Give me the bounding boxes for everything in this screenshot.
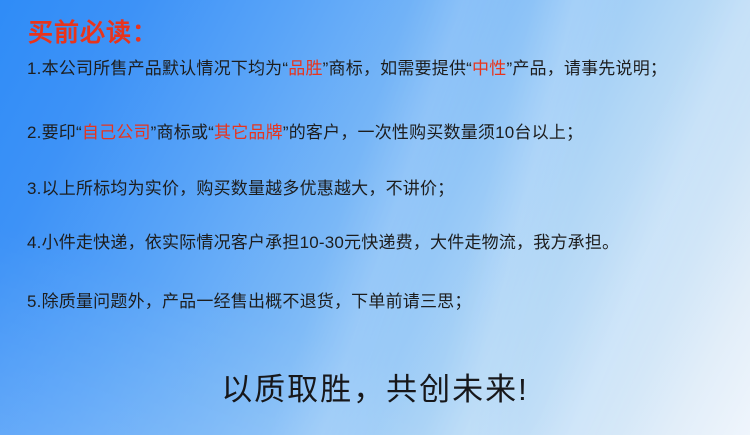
notice-highlight-text: 自己公司 — [82, 123, 151, 142]
notice-highlight-text: 中性 — [472, 59, 506, 78]
company-slogan: 以质取胜，共创未来! — [0, 370, 750, 410]
notice-line-3: 3.以上所标均为实价，购买数量越多优惠越大，不讲价； — [27, 178, 454, 200]
notice-text: 商标，如需要提供 — [329, 59, 467, 78]
notice-line-1: 1.本公司所售产品默认情况下均为“品胜”商标，如需要提供“中性”产品，请事先说明… — [27, 58, 667, 80]
notice-text: 要印 — [42, 123, 76, 142]
page-title: 买前必读： — [28, 18, 158, 48]
notice-highlight-text: 品胜 — [288, 59, 322, 78]
notice-text: 产品，请事先说明； — [512, 59, 667, 78]
notice-line-number: 5. — [27, 292, 42, 311]
notice-line-2: 2.要印“自己公司”商标或“其它品牌”的客户，一次性购买数量须10台以上； — [27, 122, 583, 144]
notice-text: 除质量问题外，产品一经售出概不退货，下单前请三思； — [42, 292, 472, 311]
notice-line-number: 1. — [27, 59, 42, 78]
notice-highlight-text: 其它品牌 — [214, 123, 283, 142]
notice-text: 商标或 — [157, 123, 209, 142]
notice-text: 以上所标均为实价，购买数量越多优惠越大，不讲价； — [42, 179, 455, 198]
notice-line-4: 4.小件走快递，依实际情况客户承担10-30元快递费，大件走物流，我方承担。 — [27, 232, 619, 254]
notice-line-number: 2. — [27, 123, 42, 142]
notice-text: 小件走快递，依实际情况客户承担10-30元快递费，大件走物流，我方承担。 — [42, 233, 620, 252]
purchase-notice-banner: 买前必读： 1.本公司所售产品默认情况下均为“品胜”商标，如需要提供“中性”产品… — [0, 0, 750, 435]
notice-line-5: 5.除质量问题外，产品一经售出概不退货，下单前请三思； — [27, 291, 472, 313]
notice-text: 本公司所售产品默认情况下均为 — [42, 59, 283, 78]
notice-line-number: 4. — [27, 233, 42, 252]
notice-line-number: 3. — [27, 179, 42, 198]
notice-text: 的客户，一次性购买数量须10台以上； — [289, 123, 584, 142]
